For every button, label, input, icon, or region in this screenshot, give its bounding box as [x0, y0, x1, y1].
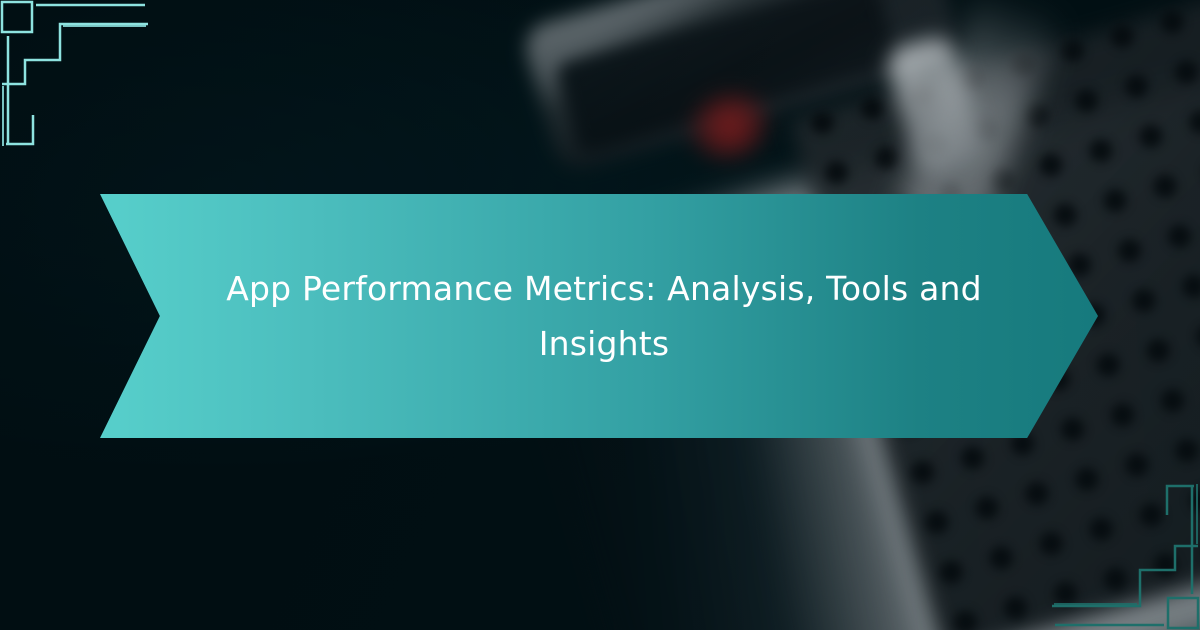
title-banner: App Performance Metrics: Analysis, Tools…: [100, 194, 1098, 438]
banner-canvas: App Performance Metrics: Analysis, Tools…: [0, 0, 1200, 630]
page-title: App Performance Metrics: Analysis, Tools…: [224, 261, 984, 371]
